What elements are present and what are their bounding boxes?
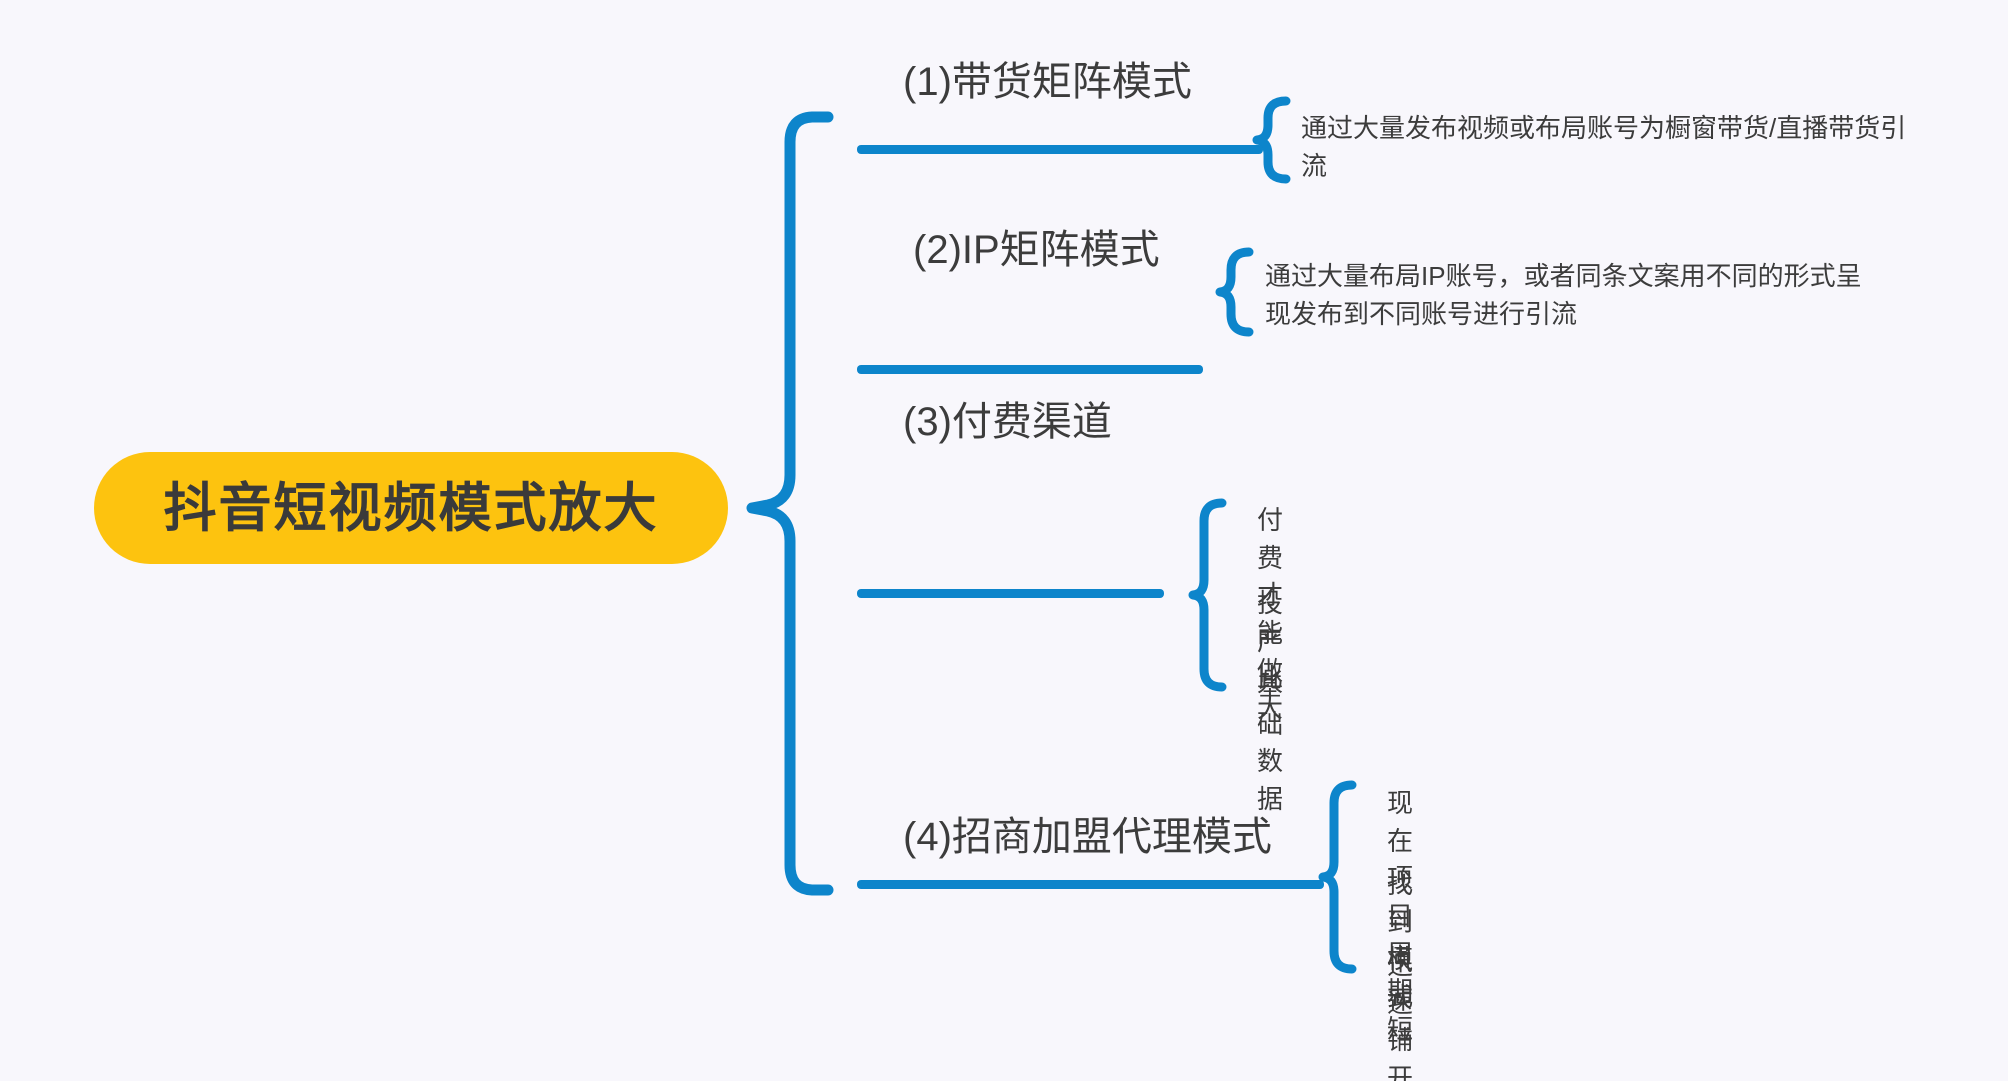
branch-1-leaf-1[interactable]: 通过大量发布视频或布局账号为橱窗带货/直播带货引流 <box>1301 110 1911 185</box>
main-brace-icon <box>752 117 828 890</box>
sub-brace-branch-1-icon <box>1257 101 1286 179</box>
branch-4-title: (4)招商加盟代理模式 <box>903 815 1272 859</box>
branch-2-title: (2)IP矩阵模式 <box>913 228 1160 272</box>
branch-3-leaf-3[interactable]: 基础数据 <box>1257 668 1283 819</box>
sub-brace-branch-2-icon <box>1220 252 1249 332</box>
branch-2-leaf-1[interactable]: 通过大量布局IP账号，或者同条文案用不同的形式呈现发布到不同账号进行引流 <box>1265 258 1882 333</box>
branch-3-title: (3)付费渠道 <box>903 400 1112 444</box>
branch-4-leaf-3[interactable]: 迅速铺开 <box>1387 947 1413 1081</box>
mindmap-canvas: 抖音短视频模式放大 (1)带货矩阵模式 通过大量发布视频或布局账号为橱窗带货/直… <box>0 0 2008 1081</box>
branch-1-underline <box>857 145 1263 154</box>
branch-1-title: (1)带货矩阵模式 <box>903 60 1192 104</box>
root-node[interactable]: 抖音短视频模式放大 <box>94 452 728 564</box>
sub-brace-branch-4-icon <box>1323 785 1352 969</box>
sub-brace-branch-3-icon <box>1193 503 1222 687</box>
branch-4-underline <box>857 880 1324 889</box>
branch-2-underline <box>857 365 1203 374</box>
root-node-label: 抖音短视频模式放大 <box>164 482 659 535</box>
branch-3-underline <box>857 589 1164 598</box>
